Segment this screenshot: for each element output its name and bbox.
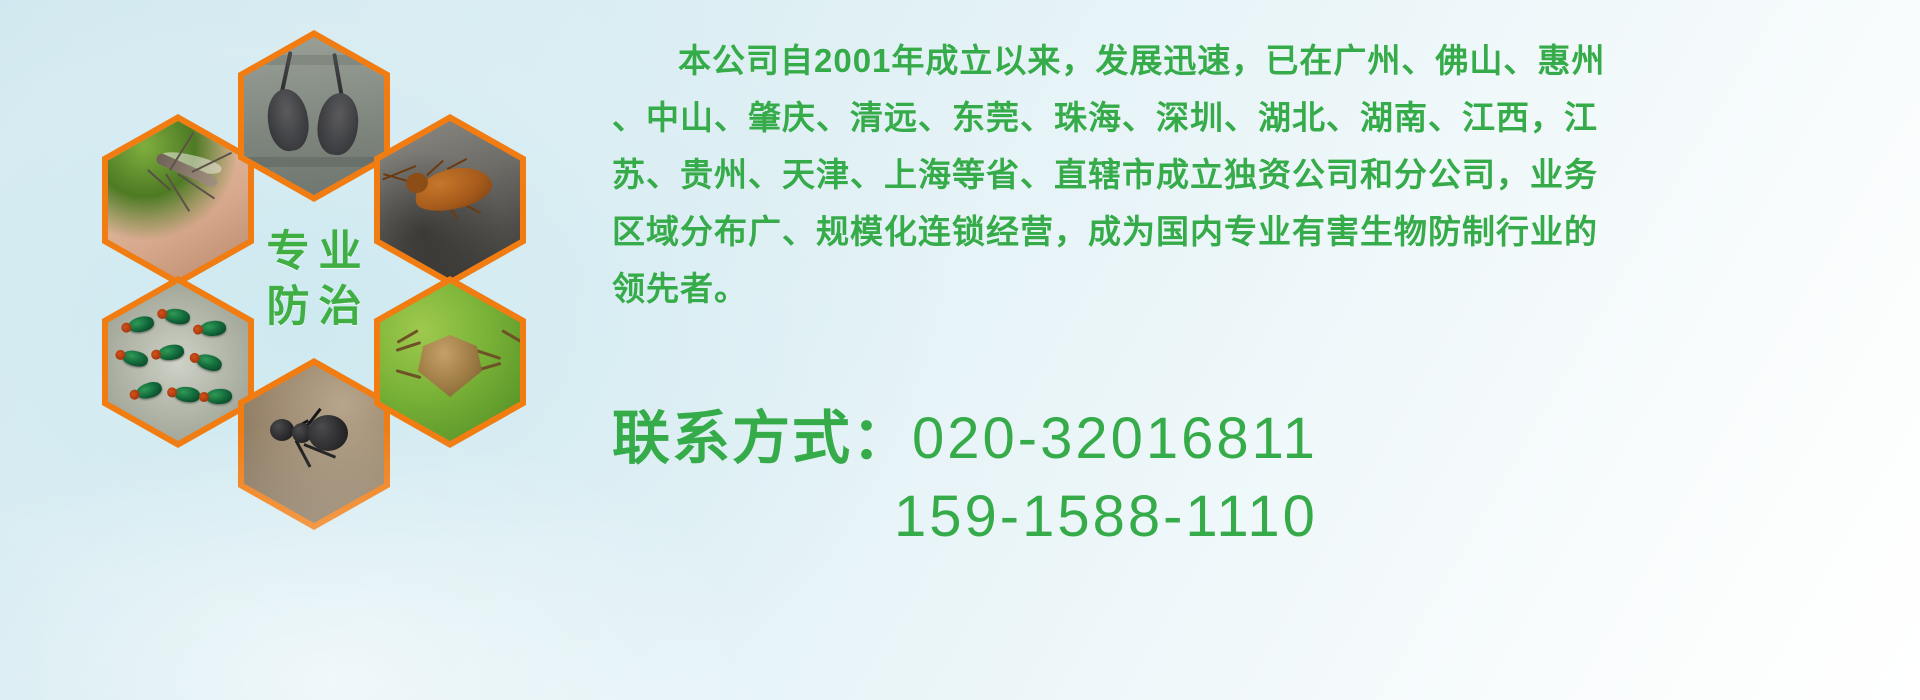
contact-label: 联系方式： xyxy=(612,406,912,471)
contact-phone-primary[interactable]: 020-32016811 xyxy=(912,406,1318,471)
contact-phone-secondary[interactable]: 159-1588-1110 xyxy=(894,484,1318,549)
contact-primary-line: 联系方式：020-32016811 xyxy=(612,400,1902,478)
hex-inner-rats xyxy=(244,37,384,195)
hex-inner-ant xyxy=(244,365,384,523)
hex-inner-flies xyxy=(108,283,248,441)
hex-cell-flies xyxy=(102,276,254,448)
hex-inner-stinkbug xyxy=(380,283,520,441)
slogan-line-2: 防治 xyxy=(258,285,371,330)
stinkbug-icon xyxy=(380,283,520,441)
flies-icon xyxy=(108,283,248,441)
intro-line-1: 本公司自2001年成立以来，发展迅速，已在广州、佛山、惠州 xyxy=(612,32,1902,89)
intro-line-4: 区域分布广、规模化连锁经营，成为国内专业有害生物防制行业的 xyxy=(612,203,1902,260)
intro-line-3: 苏、贵州、天津、上海等省、直辖市成立独资公司和分公司，业务 xyxy=(612,146,1902,203)
slogan-line-1: 专业 xyxy=(258,230,371,275)
company-intro-block: 本公司自2001年成立以来，发展迅速，已在广州、佛山、惠州 、中山、肇庆、清远、… xyxy=(612,32,1902,317)
contact-secondary-line: 159-1588-1110 xyxy=(612,478,1902,556)
hex-cell-rats xyxy=(238,30,390,202)
brand-slogan: 专业 防治 xyxy=(238,194,390,366)
promotional-banner: 专业 防治 本公司自2001年成立以来，发展迅速，已在广州、佛山、惠州 、中山、… xyxy=(0,0,1920,700)
company-intro-paragraph: 本公司自2001年成立以来，发展迅速，已在广州、佛山、惠州 、中山、肇庆、清远、… xyxy=(612,32,1902,317)
cockroach-icon xyxy=(380,121,520,279)
hex-cell-cockroach xyxy=(374,114,526,286)
intro-line-5: 领先者。 xyxy=(612,260,1902,317)
hex-inner-cockroach xyxy=(380,121,520,279)
hex-cell-ant xyxy=(238,358,390,530)
hex-cell-mosquito xyxy=(102,114,254,286)
hex-inner-mosquito xyxy=(108,121,248,279)
intro-line-2: 、中山、肇庆、清远、东莞、珠海、深圳、湖北、湖南、江西，江 xyxy=(612,89,1902,146)
hex-cell-stinkbug xyxy=(374,276,526,448)
contact-block: 联系方式：020-32016811 159-1588-1110 xyxy=(612,400,1902,556)
mosquito-icon xyxy=(108,121,248,279)
rats-icon xyxy=(244,37,384,195)
ant-icon xyxy=(244,365,384,523)
hexagon-image-cluster: 专业 防治 xyxy=(90,8,590,568)
